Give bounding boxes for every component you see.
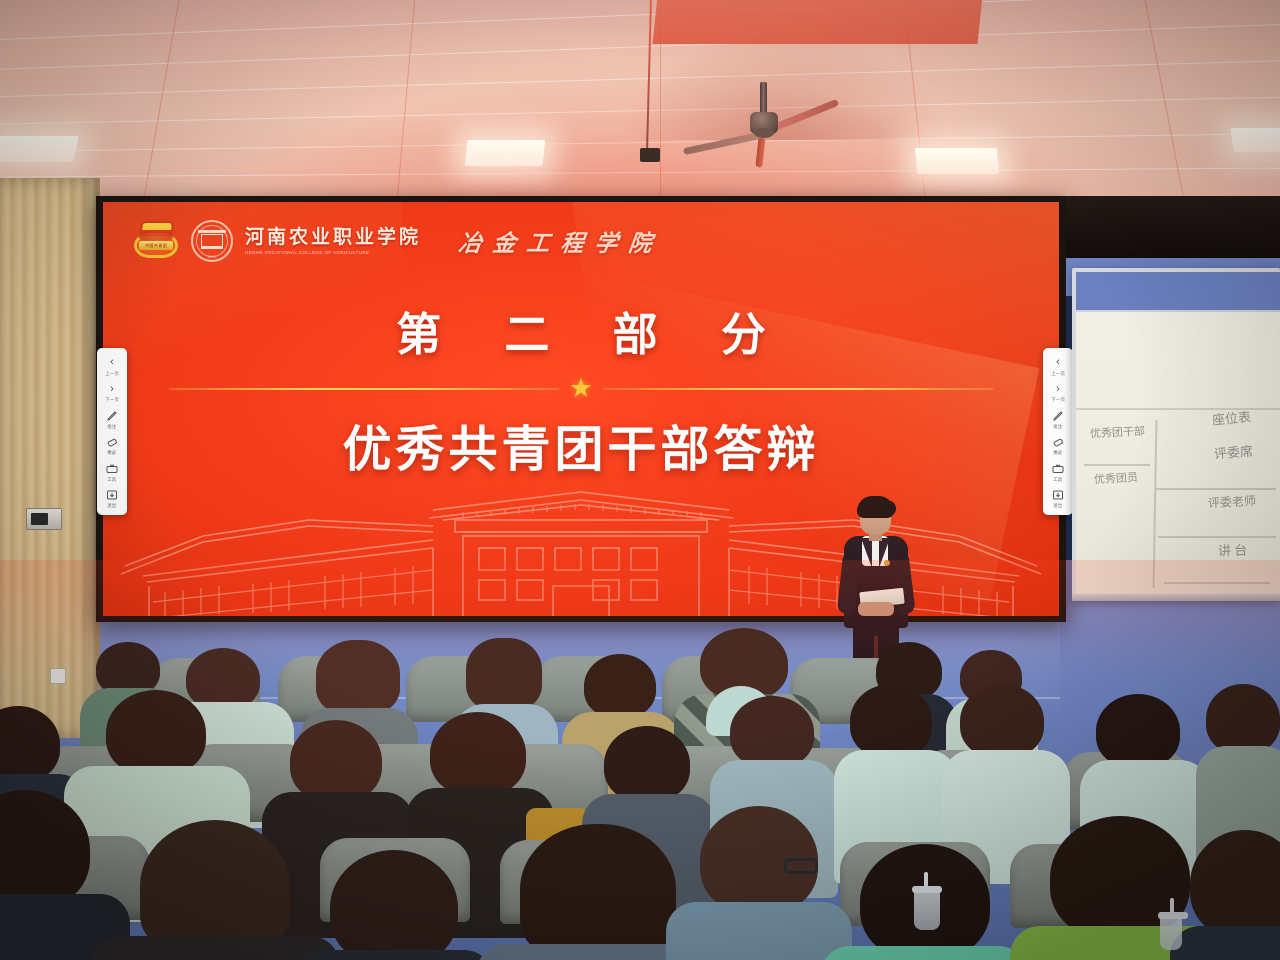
whiteboard-label: 评委席 xyxy=(1214,445,1254,461)
ceiling-light xyxy=(915,148,999,174)
university-name-cn: 河南农业职业学院 xyxy=(245,228,421,247)
slide-section-label: 第 二 部 分 xyxy=(103,298,1059,363)
chevron-right-icon: › xyxy=(105,383,120,396)
whiteboard-label: 优秀团员 xyxy=(1094,473,1139,486)
pen-icon xyxy=(1051,409,1066,422)
whiteboard-label: 座位表 xyxy=(1212,410,1252,426)
emblem-band-text: 中国共青团 xyxy=(139,241,173,250)
whiteboard-label: 优秀团干部 xyxy=(1090,427,1146,441)
toolbar-item-prev-page[interactable]: ‹ 上一页 xyxy=(97,353,127,379)
wall-control-panel[interactable] xyxy=(26,508,62,530)
university-name-block: 河南农业职业学院 HENAN VOCATIONAL COLLEGE OF AGR… xyxy=(245,226,421,256)
eraser-icon xyxy=(105,436,120,449)
toolbar-item-eraser[interactable]: 橡皮 xyxy=(97,433,127,459)
upper-dark-wall xyxy=(1066,196,1280,258)
annotation-toolbar-left[interactable]: ‹ 上一页 › 下一页 批注 橡皮 工具 xyxy=(97,348,127,515)
toolbar-item-tools[interactable]: 工具 xyxy=(97,459,127,485)
annotation-toolbar-right[interactable]: ‹ 上一页 › 下一页 批注 橡皮 工具 xyxy=(1043,348,1073,515)
chevron-right-icon: › xyxy=(1051,383,1066,396)
exit-icon xyxy=(105,489,120,502)
communist-youth-league-emblem-icon: 中国共青团 xyxy=(133,220,179,262)
chevron-left-icon: ‹ xyxy=(1051,356,1066,369)
college-name-cn: 冶金工程学院 xyxy=(457,224,665,258)
lapel-pin-icon xyxy=(884,560,890,566)
ceiling-fan-icon xyxy=(700,82,880,152)
toolbar-item-next-page[interactable]: › 下一页 xyxy=(1043,380,1073,406)
toolbar-item-eraser[interactable]: 橡皮 xyxy=(1043,433,1073,459)
whiteboard-label: 讲 台 xyxy=(1218,543,1248,557)
ceiling-light xyxy=(465,140,546,166)
eraser-icon xyxy=(1051,436,1066,449)
star-icon: ★ xyxy=(569,377,593,399)
chevron-left-icon: ‹ xyxy=(105,356,120,369)
whiteboard-label: 评委老师 xyxy=(1208,495,1257,509)
toolbar-item-next-page[interactable]: › 下一页 xyxy=(97,380,127,406)
slide-divider: ★ xyxy=(169,380,993,396)
toolbox-icon xyxy=(105,462,120,475)
drink-cup xyxy=(914,890,940,930)
ceiling-light xyxy=(1230,128,1280,152)
audience xyxy=(0,600,1280,960)
toolbar-item-annotate[interactable]: 批注 xyxy=(97,406,127,432)
university-seal-icon: 1952 xyxy=(191,220,233,262)
whiteboard[interactable]: 优秀团干部 优秀团员 座位表 评委席 评委老师 讲 台 xyxy=(1076,310,1280,594)
toolbar-item-exit[interactable]: 退出 xyxy=(1043,486,1073,512)
pen-icon xyxy=(105,409,120,422)
exit-icon xyxy=(1051,489,1066,502)
slide-subtitle: 优秀共青团干部答辩 xyxy=(103,410,1059,481)
eyeglasses-icon xyxy=(784,858,818,874)
toolbar-item-tools[interactable]: 工具 xyxy=(1043,459,1073,485)
toolbar-item-annotate[interactable]: 批注 xyxy=(1043,406,1073,432)
toolbar-item-prev-page[interactable]: ‹ 上一页 xyxy=(1043,353,1073,379)
auditorium-photo-scene: 中国共青团 1952 河南农业职业学院 HENAN VOCATIONAL COL… xyxy=(0,0,1280,960)
university-name-en: HENAN VOCATIONAL COLLEGE OF AGRICULTURE xyxy=(245,251,421,256)
ceiling-light xyxy=(0,136,79,162)
ceiling-speaker xyxy=(640,148,660,162)
ceiling xyxy=(0,0,1280,205)
drink-cup xyxy=(1160,916,1182,950)
toolbar-item-exit[interactable]: 退出 xyxy=(97,486,127,512)
slide-header: 中国共青团 1952 河南农业职业学院 HENAN VOCATIONAL COL… xyxy=(133,212,1039,270)
toolbox-icon xyxy=(1051,462,1066,475)
